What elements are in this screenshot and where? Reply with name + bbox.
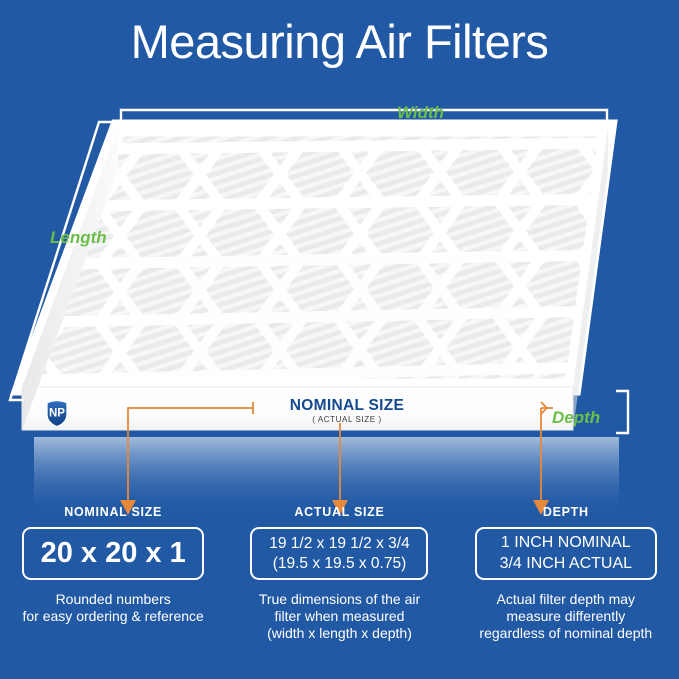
card-value-lines: 1 INCH NOMINAL 3/4 INCH ACTUAL [500, 533, 632, 575]
card-heading: ACTUAL SIZE [294, 505, 384, 519]
card-note-line: filter when measured [259, 608, 420, 625]
card-note-line: True dimensions of the air [259, 591, 420, 608]
filter-svg [0, 95, 679, 515]
card-value-line: 3/4 INCH ACTUAL [500, 554, 632, 575]
card-note-line: (width x length x depth) [259, 625, 420, 642]
card-note-line: Rounded numbers [23, 591, 204, 608]
card-value-box: 20 x 20 x 1 [22, 527, 204, 580]
card-note-line: measure differently [479, 608, 652, 625]
card-nominal-size: NOMINAL SIZE 20 x 20 x 1 Rounded numbers… [0, 505, 226, 679]
shield-logo-text: NP [49, 408, 65, 420]
card-value-lines: 19 1/2 x 19 1/2 x 3/4 (19.5 x 19.5 x 0.7… [269, 534, 409, 573]
card-depth: DEPTH 1 INCH NOMINAL 3/4 INCH ACTUAL Act… [453, 505, 679, 679]
nominal-size-text: NOMINAL SIZE [262, 398, 432, 414]
width-label: Width [397, 103, 444, 123]
length-label: Length [50, 228, 107, 248]
shield-logo: NP [44, 400, 70, 428]
card-value-line: 20 x 20 x 1 [41, 539, 186, 568]
card-value-box: 19 1/2 x 19 1/2 x 3/4 (19.5 x 19.5 x 0.7… [250, 527, 428, 580]
card-note-line: regardless of nominal depth [479, 625, 652, 642]
filter-reflection [34, 437, 619, 515]
card-value-line: (19.5 x 19.5 x 0.75) [269, 554, 409, 573]
card-value-line: 1 INCH NOMINAL [500, 533, 632, 554]
nominal-size-callout: NOMINAL SIZE ( ACTUAL SIZE ) [262, 398, 432, 424]
card-note: True dimensions of the air filter when m… [259, 591, 420, 642]
depth-bracket [616, 391, 628, 433]
card-note: Rounded numbers for easy ordering & refe… [23, 591, 204, 625]
card-heading: NOMINAL SIZE [64, 505, 162, 519]
page-title: Measuring Air Filters [0, 18, 679, 65]
card-heading: DEPTH [543, 505, 589, 519]
infographic-root: Measuring Air Filters [0, 0, 679, 679]
depth-label: Depth [552, 408, 600, 428]
card-note-line: Actual filter depth may [479, 591, 652, 608]
card-note: Actual filter depth may measure differen… [479, 591, 652, 642]
actual-size-text: ( ACTUAL SIZE ) [262, 415, 432, 424]
card-value-box: 1 INCH NOMINAL 3/4 INCH ACTUAL [475, 527, 657, 580]
cards-row: NOMINAL SIZE 20 x 20 x 1 Rounded numbers… [0, 505, 679, 679]
filter-illustration [0, 95, 679, 515]
card-actual-size: ACTUAL SIZE 19 1/2 x 19 1/2 x 3/4 (19.5 … [226, 505, 452, 679]
card-value-line: 19 1/2 x 19 1/2 x 3/4 [269, 534, 409, 553]
card-note-line: for easy ordering & reference [23, 608, 204, 625]
